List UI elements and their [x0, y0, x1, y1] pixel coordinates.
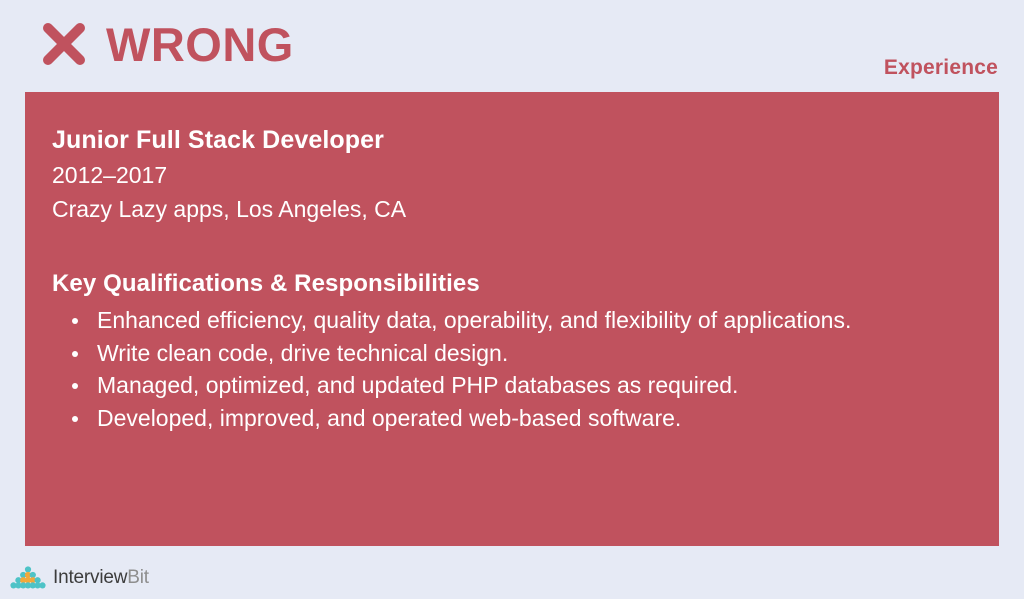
list-item: Managed, optimized, and updated PHP data…	[52, 370, 897, 401]
brand-name-primary: Interview	[53, 567, 127, 588]
qualifications-heading: Key Qualifications & Responsibilities	[52, 272, 959, 296]
section-label: Experience	[884, 57, 998, 78]
experience-content: Junior Full Stack Developer 2012–2017 Cr…	[52, 128, 959, 433]
list-item: Write clean code, drive technical design…	[52, 338, 897, 369]
job-company: Crazy Lazy apps, Los Angeles, CA	[52, 198, 959, 221]
brand-wordmark: InterviewBit	[53, 568, 149, 587]
list-item: Enhanced efficiency, quality data, opera…	[52, 305, 897, 336]
job-title: Junior Full Stack Developer	[52, 128, 959, 153]
list-item: Developed, improved, and operated web-ba…	[52, 403, 897, 434]
cross-mark-icon	[40, 20, 88, 68]
interviewbit-triangle-icon	[10, 565, 46, 589]
verdict-label: WRONG	[106, 21, 294, 68]
verdict-group: WRONG	[40, 20, 294, 68]
experience-panel: Junior Full Stack Developer 2012–2017 Cr…	[25, 92, 999, 546]
brand-name-secondary: Bit	[127, 567, 149, 588]
brand-logo: InterviewBit	[10, 565, 149, 589]
header: WRONG Experience	[0, 0, 1024, 92]
job-dates: 2012–2017	[52, 164, 959, 187]
qualifications-list: Enhanced efficiency, quality data, opera…	[52, 305, 959, 433]
